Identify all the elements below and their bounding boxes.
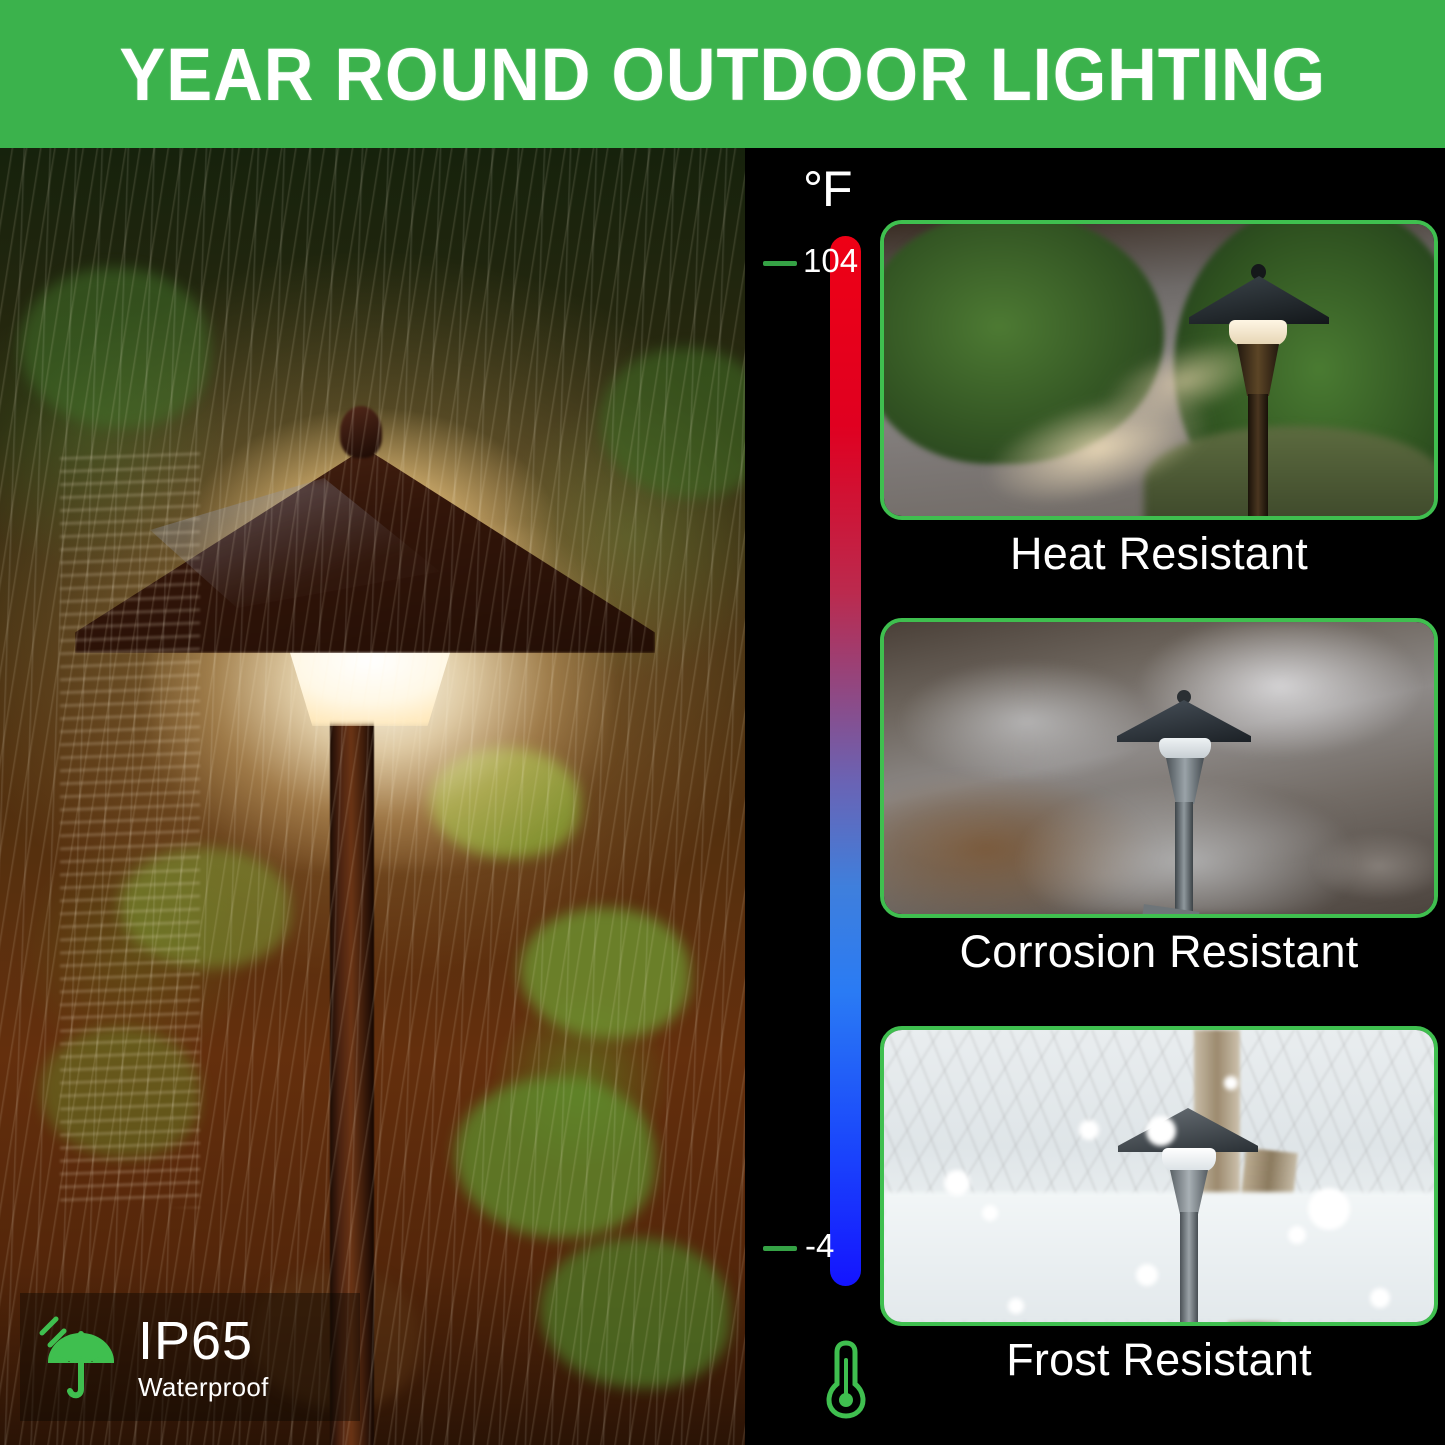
feature-label: Frost Resistant — [880, 1334, 1438, 1386]
feature-card: Corrosion Resistant — [880, 618, 1445, 978]
feature-card: Frost Resistant — [880, 1026, 1445, 1386]
temperature-min-tick — [763, 1246, 797, 1251]
feature-label: Heat Resistant — [880, 528, 1438, 580]
frost-resistant-photo — [880, 1026, 1438, 1326]
waterproof-label: Waterproof — [138, 1374, 269, 1400]
feature-card-list: Heat Resistant — [880, 148, 1445, 1445]
snowflake — [982, 1205, 998, 1221]
feature-label: Corrosion Resistant — [880, 926, 1438, 978]
lamp-shade — [1189, 276, 1329, 324]
lamp-shade — [1118, 1108, 1258, 1152]
lamp-lens — [1162, 1148, 1216, 1172]
umbrella-icon-svg — [36, 1311, 122, 1403]
snowflake — [1288, 1226, 1306, 1244]
snowflake — [944, 1170, 970, 1196]
thermometer-icon-svg — [825, 1338, 867, 1420]
lamp-lens — [1159, 738, 1211, 760]
hero-photo: IP65 Waterproof — [0, 148, 745, 1445]
page-title: YEAR ROUND OUTDOOR LIGHTING — [119, 32, 1326, 117]
lamp-lens — [1229, 320, 1287, 346]
features-panel: °F 104 -4 — [745, 148, 1445, 1445]
snowflake — [1308, 1188, 1350, 1230]
lamp-pole — [1175, 802, 1193, 918]
snowflake — [1146, 1116, 1176, 1146]
water-runoff — [60, 448, 200, 1208]
snowflake — [1079, 1120, 1099, 1140]
ip65-text-group: IP65 Waterproof — [138, 1314, 269, 1400]
temperature-min-label: -4 — [805, 1227, 834, 1265]
feature-card: Heat Resistant — [880, 220, 1445, 580]
ip65-rating-label: IP65 — [138, 1314, 269, 1368]
temperature-max-label: 104 — [803, 242, 858, 280]
thermometer-icon — [825, 1338, 867, 1420]
lamp-neck — [1166, 758, 1204, 804]
pathway-light — [1109, 690, 1259, 918]
temperature-gradient-bar — [830, 236, 861, 1286]
header-banner: YEAR ROUND OUTDOOR LIGHTING — [0, 0, 1445, 148]
umbrella-rain-icon — [36, 1311, 122, 1403]
temperature-unit-label: °F — [803, 160, 852, 218]
product-feature-image: YEAR ROUND OUTDOOR LIGHTING — [0, 0, 1445, 1445]
lamp-pole — [1180, 1212, 1198, 1326]
lamp-neck — [1237, 344, 1279, 396]
temperature-scale: °F 104 -4 — [745, 148, 900, 1445]
ip65-badge: IP65 Waterproof — [20, 1293, 360, 1421]
snowflake — [1136, 1264, 1158, 1286]
snowflake — [1224, 1076, 1238, 1090]
snowflake — [1370, 1288, 1390, 1308]
corrosion-resistant-photo — [880, 618, 1438, 918]
heat-resistant-photo — [880, 220, 1438, 520]
snowflake — [1008, 1298, 1024, 1314]
pathway-light — [1179, 264, 1339, 520]
lamp-pole — [1248, 394, 1268, 520]
lamp-shade — [1117, 700, 1251, 742]
lamp-neck — [1170, 1170, 1208, 1214]
pathway-light — [1112, 1102, 1262, 1326]
temperature-max-tick — [763, 261, 797, 266]
